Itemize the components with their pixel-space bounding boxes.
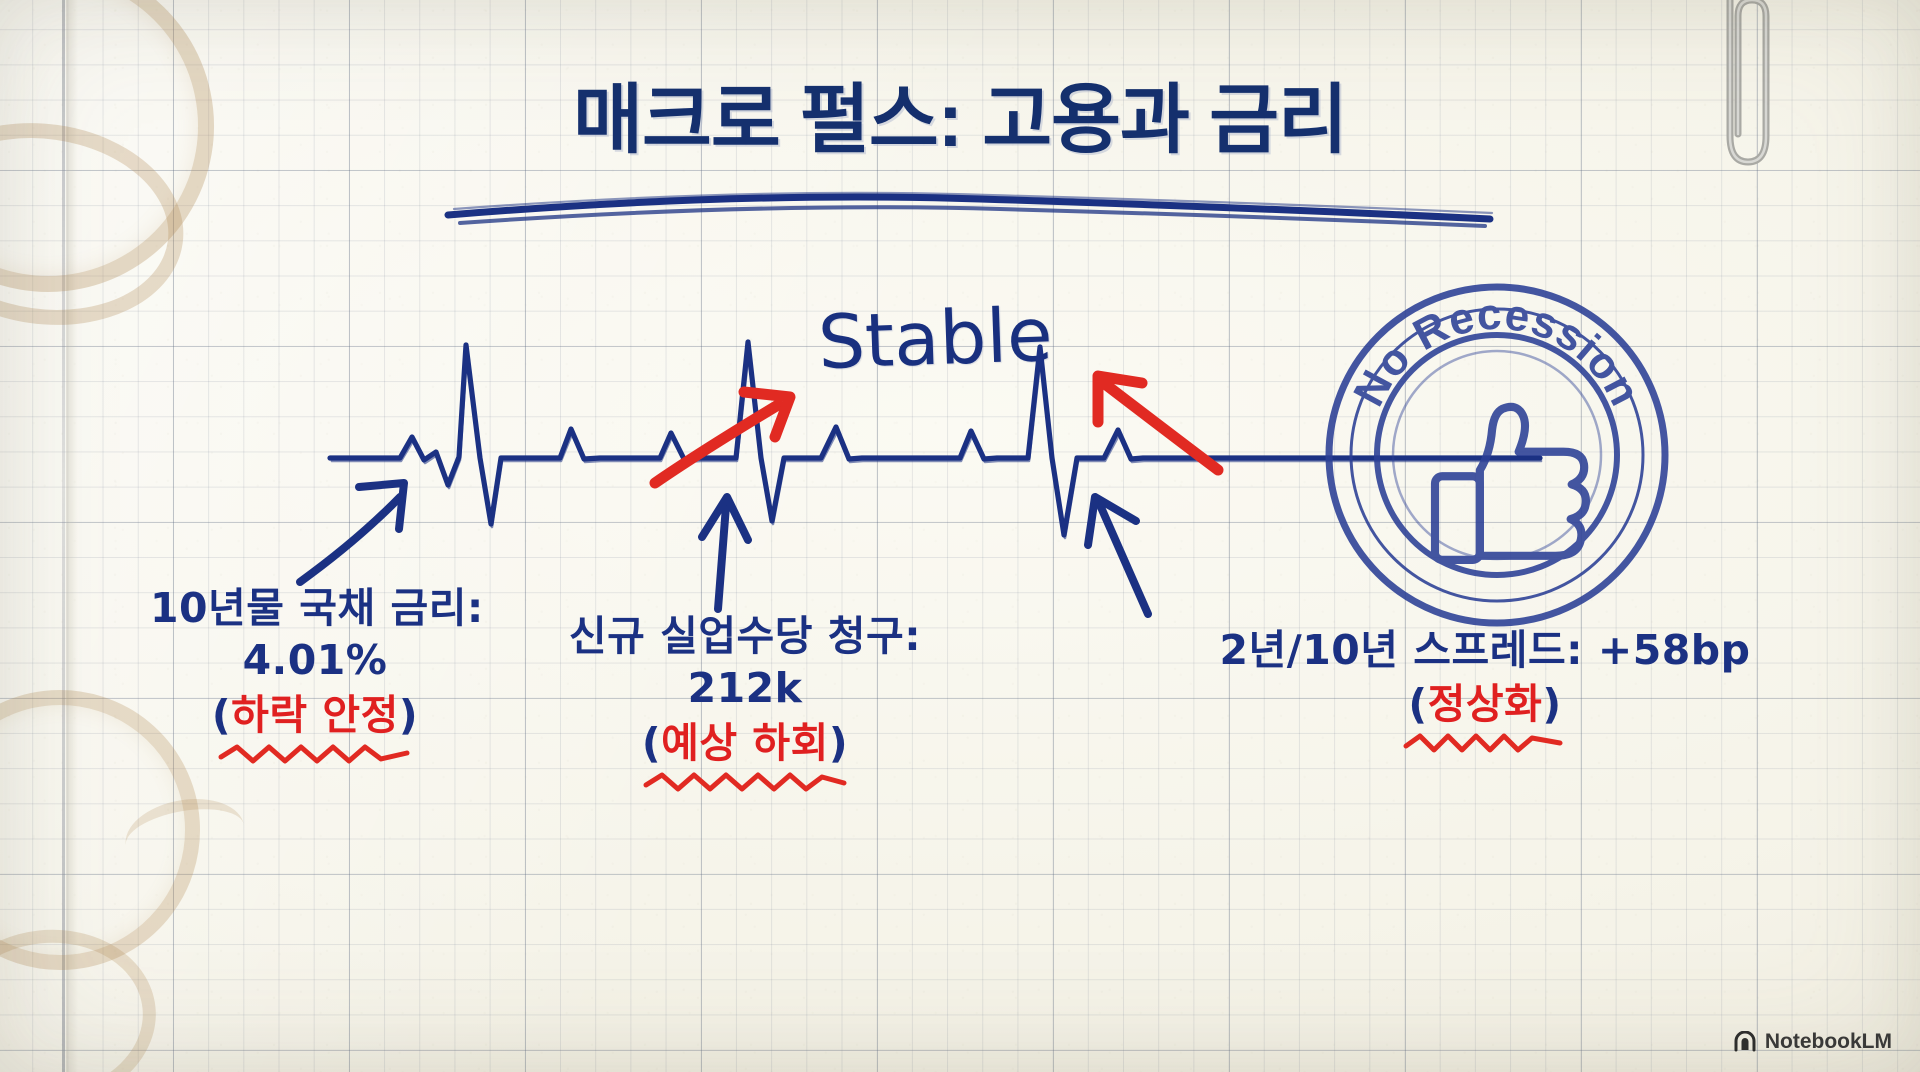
annotation-status-text: 하락 안정: [231, 691, 399, 739]
notebooklm-watermark: NotebookLM: [1733, 1030, 1892, 1054]
notebook-page: 매크로 펄스: 고용과 금리 Stable: [0, 0, 1920, 1072]
annotation-label: 10년물 국채 금리:: [150, 584, 480, 632]
annotation-status-text: 예상 하회: [661, 719, 829, 767]
annotation-label: 신규 실업수당 청구:: [560, 612, 930, 660]
red-squiggle-underline: [1400, 731, 1570, 755]
annotation-initial-jobless-claims: 신규 실업수당 청구: 212k (예상 하회): [560, 612, 930, 795]
page-title: 매크로 펄스: 고용과 금리: [0, 58, 1920, 168]
annotation-status: (하락 안정): [150, 691, 480, 739]
title-underline: [440, 185, 1500, 233]
annotation-status: (정상화): [1195, 680, 1775, 728]
annotation-value: 4.01%: [150, 636, 480, 684]
red-squiggle-underline: [640, 769, 850, 795]
red-squiggle-underline: [215, 741, 415, 767]
stable-callout-label: Stable: [817, 292, 1054, 386]
annotation-value: 212k: [560, 664, 930, 712]
annotation-label: 2년/10년 스프레드: +58bp: [1195, 626, 1775, 674]
annotation-status-text: 정상화: [1428, 680, 1543, 728]
annotation-status: (예상 하회): [560, 719, 930, 767]
annotation-two-ten-spread: 2년/10년 스프레드: +58bp (정상화): [1195, 626, 1775, 755]
annotation-ten-year-treasury: 10년물 국채 금리: 4.01% (하락 안정): [150, 584, 480, 767]
watermark-label: NotebookLM: [1765, 1030, 1892, 1054]
notebooklm-logo-icon: [1733, 1031, 1757, 1053]
